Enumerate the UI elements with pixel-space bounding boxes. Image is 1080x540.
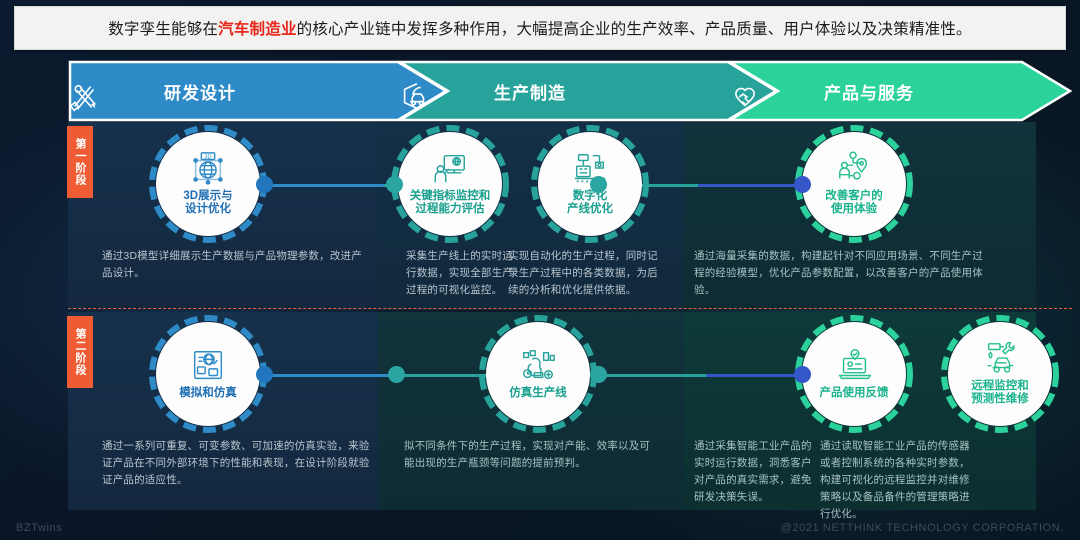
desc-product-usage-feedback: 通过采集智能工业产品的实时运行数据，洞悉客户对产品的真实需求，避免研发决策失误。 bbox=[694, 438, 812, 506]
customer-location-icon bbox=[835, 150, 873, 188]
desc-3d-display-design: 通过3D模型详细展示生产数据与产品物理参数，改进产品设计。 bbox=[102, 248, 368, 282]
node-title-line1: 改善客户的 bbox=[825, 190, 883, 203]
node-title-line1: 远程监控和 bbox=[971, 380, 1029, 393]
node-title-line1: 关键指标监控和 bbox=[410, 190, 491, 203]
car-maintenance-icon bbox=[981, 340, 1019, 378]
node-title-line2: 过程能力评估 bbox=[410, 203, 491, 216]
node-kpi-monitoring[interactable]: 关键指标监控和 过程能力评估 bbox=[398, 132, 502, 236]
handshake-icon bbox=[728, 79, 762, 113]
node-simulation[interactable]: 模拟和仿真 bbox=[156, 322, 260, 426]
node-title-line2: 预测性维修 bbox=[971, 393, 1029, 406]
connector-line-2-d bbox=[706, 374, 802, 377]
svg-text:3D: 3D bbox=[204, 155, 211, 161]
desc-simulated-production-line: 拟不同条件下的生产过程，实现对产能、效率以及可能出现的生产瓶颈等问题的提前预判。 bbox=[404, 438, 654, 472]
connector-dot-2-b bbox=[388, 366, 405, 383]
phase-2: 第二阶段 bbox=[68, 312, 1072, 510]
arrow-stage-research-design[interactable]: 研发设计 bbox=[68, 60, 448, 122]
robotic-hand-icon bbox=[519, 347, 557, 385]
headline-text: 数字孪生能够在汽车制造业的核心产业链中发挥多种作用，大幅提高企业的生产效率、产品… bbox=[108, 17, 972, 39]
arrow-stage-product-service[interactable]: 产品与服务 bbox=[728, 60, 1072, 122]
connector-dot-2-c bbox=[590, 366, 607, 383]
phase-divider bbox=[68, 308, 1072, 309]
3d-globe-icon: 3D bbox=[189, 150, 227, 188]
phase-1: 第一阶段 3D bbox=[68, 122, 1072, 310]
node-improve-customer-experience[interactable]: 改善客户的 使用体验 bbox=[802, 132, 906, 236]
connector-line-1-d bbox=[698, 184, 802, 187]
desc-improve-customer-experience: 通过海量采集的数据，构建起针对不同应用场景、不同生产过程的经验模型，优化产品参数… bbox=[694, 248, 984, 299]
headline-banner: 数字孪生能够在汽车制造业的核心产业链中发挥多种作用，大幅提高企业的生产效率、产品… bbox=[14, 6, 1066, 50]
headline-highlight: 汽车制造业 bbox=[218, 21, 297, 38]
connector-dot-2-a bbox=[256, 366, 273, 383]
slide-canvas: 数字孪生能够在汽车制造业的核心产业链中发挥多种作用，大幅提高企业的生产效率、产品… bbox=[0, 0, 1080, 540]
arrow-stage-production[interactable]: 生产制造 bbox=[398, 60, 778, 122]
arrow-label-2: 生产制造 bbox=[494, 79, 566, 104]
connector-dot-2-d bbox=[794, 366, 811, 383]
node-title-line2: 使用体验 bbox=[825, 203, 883, 216]
phases-panel: 第一阶段 3D bbox=[68, 122, 1072, 510]
desc-simulation: 通过一系列可重复、可变参数、可加速的仿真实验，来验证产品在不同外部环境下的性能和… bbox=[102, 438, 370, 489]
headline-post: 的核心产业链中发挥多种作用，大幅提高企业的生产效率、产品质量、用户体验以及决策精… bbox=[297, 21, 972, 38]
process-arrow-banner: 研发设计 生产制造 bbox=[68, 60, 1072, 122]
connector-dot-1-b bbox=[386, 176, 403, 193]
phase-1-tab: 第一阶段 bbox=[67, 126, 93, 198]
car-manufacturing-icon bbox=[398, 79, 432, 113]
node-title-line1: 数字化 bbox=[567, 190, 613, 203]
footer-copyright: @2021 NETTHINK TECHNOLOGY CORPORATION. bbox=[781, 522, 1064, 534]
connector-line-2-c bbox=[598, 374, 706, 377]
headline-pre: 数字孪生能够在 bbox=[108, 21, 218, 38]
arrow-label-3: 产品与服务 bbox=[824, 79, 914, 104]
node-title-line1: 仿真生产线 bbox=[509, 387, 567, 400]
connector-dot-1-a bbox=[256, 176, 273, 193]
desc-remote-monitoring-maintenance: 通过读取智能工业产品的传感器或者控制系统的各种实时参数，构建可视化的远程监控并对… bbox=[820, 438, 980, 523]
laptop-feedback-icon bbox=[835, 347, 873, 385]
connector-line-1-a bbox=[264, 184, 384, 187]
desc-digital-line-optimization: 实现自动化的生产过程，同时记录生产过程中的各类数据，为后续的分析和优化提供依据。 bbox=[508, 248, 658, 299]
monitor-person-icon bbox=[431, 150, 469, 188]
node-3d-display-design[interactable]: 3D 3D展示与 设计优化 bbox=[156, 132, 260, 236]
node-title-line1: 产品使用反馈 bbox=[820, 387, 889, 400]
connector-dot-1-c bbox=[590, 176, 607, 193]
footer-brand: BZTwins bbox=[16, 522, 62, 534]
connector-dot-1-d bbox=[794, 176, 811, 193]
drafting-tools-icon bbox=[68, 79, 102, 113]
desc-kpi-monitoring: 采集生产线上的实时运行数据，实现全部生产过程的可视化监控。 bbox=[406, 248, 522, 299]
arrow-label-1: 研发设计 bbox=[164, 79, 236, 104]
node-title-line2: 设计优化 bbox=[183, 203, 232, 216]
node-title-line2: 产线优化 bbox=[567, 203, 613, 216]
phase-2-tab: 第二阶段 bbox=[67, 316, 93, 388]
node-title-line1: 3D展示与 bbox=[183, 190, 232, 203]
node-simulated-production-line[interactable]: 仿真生产线 bbox=[486, 322, 590, 426]
simulation-screen-icon bbox=[189, 347, 227, 385]
node-product-usage-feedback[interactable]: 产品使用反馈 bbox=[802, 322, 906, 426]
connector-line-2-a bbox=[264, 374, 388, 377]
node-title-line1: 模拟和仿真 bbox=[179, 387, 237, 400]
node-remote-monitoring-maintenance[interactable]: 远程监控和 预测性维修 bbox=[948, 322, 1052, 426]
